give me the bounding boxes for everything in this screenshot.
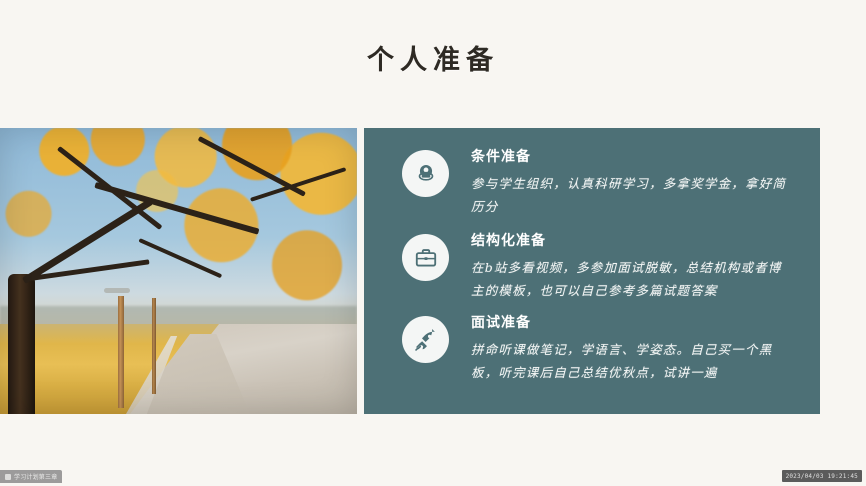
person-pin-icon [402,150,449,197]
list-item-body: 在b站多看视频，多参加面试脱敏，总结机构或者博主的模板，也可以自己参考多篇试题答… [471,256,789,302]
list-item-text: 结构化准备 在b站多看视频，多参加面试脱敏，总结机构或者博主的模板，也可以自己参… [471,232,789,302]
list-item-heading: 面试准备 [471,314,789,331]
list-item-heading: 结构化准备 [471,232,789,249]
page-title: 个人准备 [0,38,866,77]
list-item-body: 拼命听课做笔记，学语言、学姿态。自己买一个黑板，听完课后自己总结优秋点，试讲一遍 [471,338,789,384]
rocket-icon [402,316,449,363]
timestamp-text: 2023/04/03 19:21:45 [786,473,858,480]
record-icon [5,474,11,480]
list-item: 面试准备 拼命听课做笔记，学语言、学姿态。自己买一个黑板，听完课后自己总结优秋点… [364,314,820,384]
content-panel: 条件准备 参与学生组织，认真科研学习，多拿奖学金，拿好简历分 结构化准备 在b站… [364,128,820,414]
list-item-text: 条件准备 参与学生组织，认真科研学习，多拿奖学金，拿好简历分 [471,148,789,218]
list-item-body: 参与学生组织，认真科研学习，多拿奖学金，拿好简历分 [471,172,789,218]
presentation-slide: 个人准备 [0,0,866,486]
list-item-heading: 条件准备 [471,148,789,165]
slide-photo [0,128,357,414]
briefcase-icon [402,234,449,281]
list-item: 结构化准备 在b站多看视频，多参加面试脱敏，总结机构或者博主的模板，也可以自己参… [364,232,820,302]
recorder-status-badge[interactable]: 学习计划第三章 [0,470,62,483]
list-item-text: 面试准备 拼命听课做笔记，学语言、学姿态。自己买一个黑板，听完课后自己总结优秋点… [471,314,789,384]
timestamp-badge: 2023/04/03 19:21:45 [782,470,862,482]
list-item: 条件准备 参与学生组织，认真科研学习，多拿奖学金，拿好简历分 [364,148,820,218]
recorder-label: 学习计划第三章 [14,472,57,481]
photo-vignette [0,128,357,414]
